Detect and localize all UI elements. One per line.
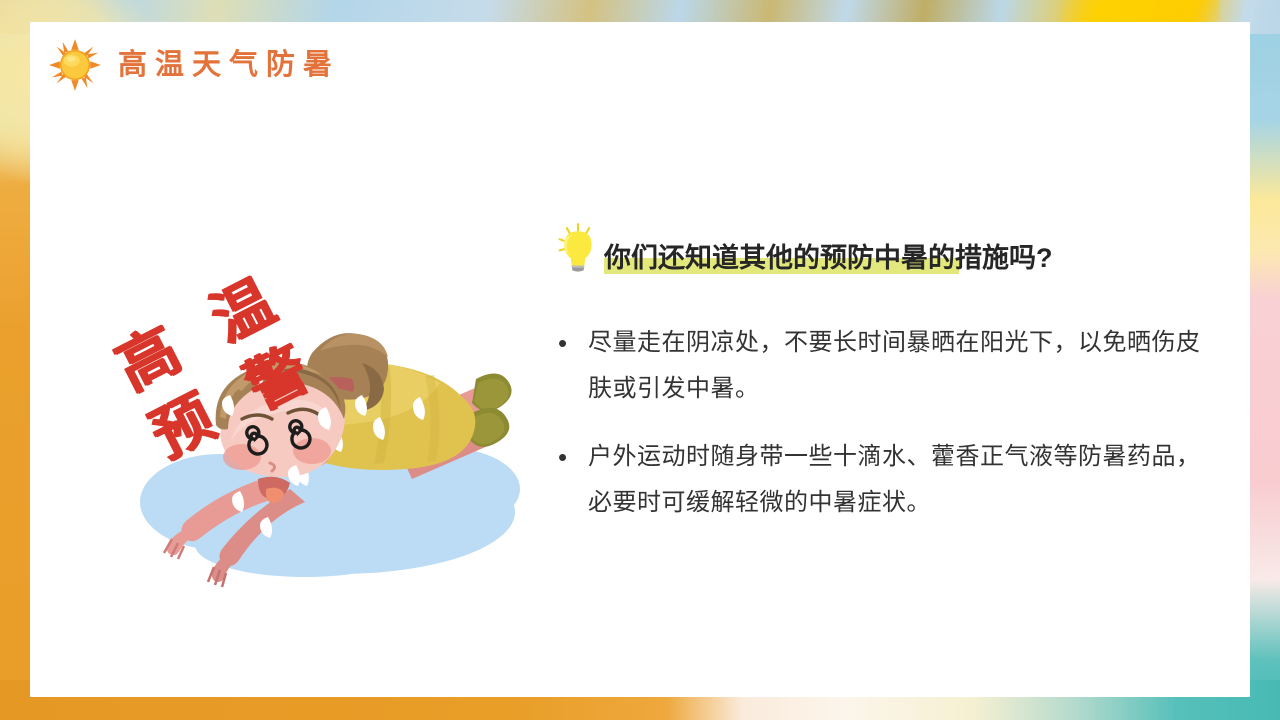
list-item: • 尽量走在阴凉处，不要长时间暴晒在阳光下，以免晒伤皮肤或引发中暑。 bbox=[554, 320, 1204, 412]
list-item: • 户外运动时随身带一些十滴水、藿香正气液等防暑药品，必要时可缓解轻微的中暑症状… bbox=[554, 434, 1204, 526]
section-heading-row: 你们还知道其他的预防中暑的措施吗? bbox=[554, 218, 1204, 276]
section-heading-text: 你们还知道其他的预防中暑的措施吗? bbox=[604, 244, 1053, 274]
sun-icon bbox=[48, 38, 102, 92]
slide-root: 高温天气防暑 bbox=[0, 0, 1280, 720]
illustration-overheated-child bbox=[90, 267, 560, 627]
bullet-marker: • bbox=[554, 320, 588, 366]
content-column: 你们还知道其他的预防中暑的措施吗? • 尽量走在阴凉处，不要长时间暴晒在阳光下，… bbox=[554, 218, 1204, 548]
bullet-list: • 尽量走在阴凉处，不要长时间暴晒在阳光下，以免晒伤皮肤或引发中暑。 • 户外运… bbox=[554, 320, 1204, 526]
bullet-text: 户外运动时随身带一些十滴水、藿香正气液等防暑药品，必要时可缓解轻微的中暑症状。 bbox=[588, 434, 1204, 526]
page-title: 高温天气防暑 bbox=[118, 51, 340, 80]
section-heading-wrap: 你们还知道其他的预防中暑的措施吗? bbox=[604, 244, 1053, 276]
page-header: 高温天气防暑 bbox=[48, 38, 340, 92]
content-card: 高温天气防暑 bbox=[30, 22, 1250, 697]
ground-puddle-shape bbox=[140, 447, 520, 577]
lightbulb-icon bbox=[554, 220, 602, 276]
bullet-text: 尽量走在阴凉处，不要长时间暴晒在阳光下，以免晒伤皮肤或引发中暑。 bbox=[588, 320, 1204, 412]
overheated-child-figure bbox=[90, 267, 560, 627]
bullet-marker: • bbox=[554, 434, 588, 480]
